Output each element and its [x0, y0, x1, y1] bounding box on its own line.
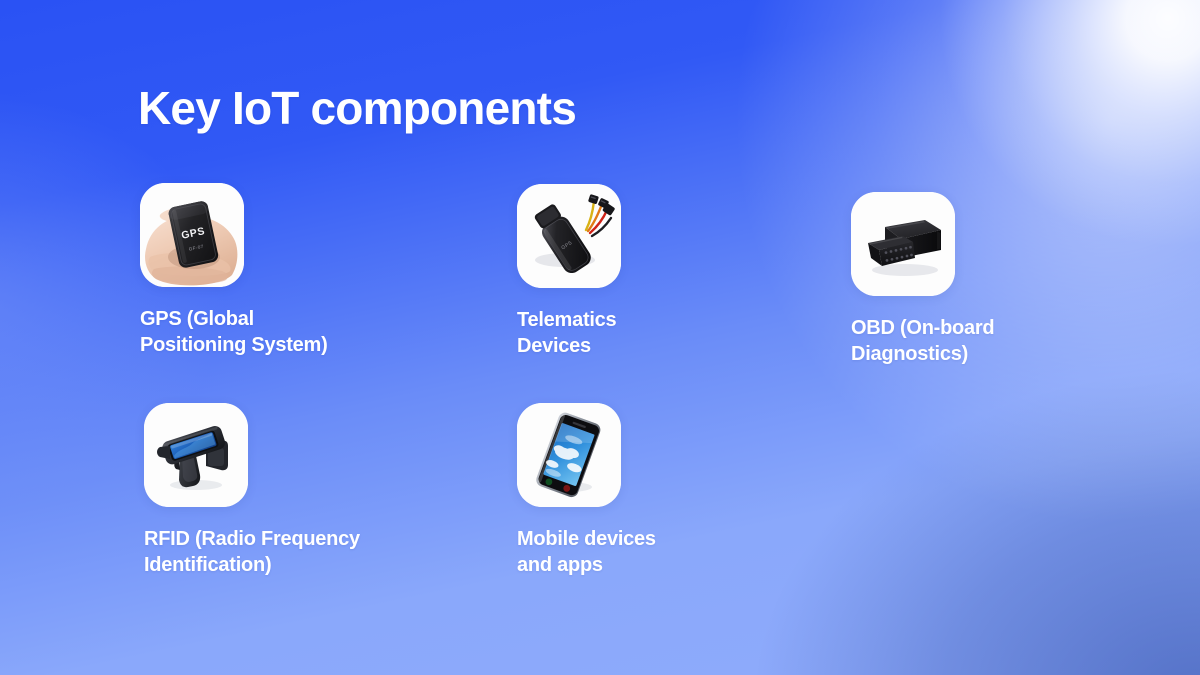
component-label-rfid: RFID (Radio Frequency Identification) [144, 527, 360, 578]
gps-tracker-in-hand-photo: GPS GF-07 [140, 183, 244, 287]
component-label-mobile: Mobile devices and apps [517, 527, 656, 578]
component-label-telematics: Telematics Devices [517, 308, 621, 359]
component-icon-tile-mobile [517, 403, 621, 507]
component-card-mobile[interactable]: Mobile devices and apps [517, 403, 656, 578]
component-icon-tile-rfid [144, 403, 248, 507]
smartphone-photo [517, 403, 621, 507]
rfid-handheld-scanner-photo [144, 403, 248, 507]
slide-canvas: Key IoT components [0, 0, 1200, 675]
component-card-telematics[interactable]: GPS [517, 184, 621, 359]
component-label-obd: OBD (On-board Diagnostics) [851, 316, 994, 367]
component-label-gps: GPS (Global Positioning System) [140, 307, 328, 358]
component-card-obd[interactable]: OBD (On-board Diagnostics) [851, 192, 994, 367]
page-title: Key IoT components [138, 84, 576, 132]
component-icon-tile-gps: GPS GF-07 [140, 183, 244, 287]
component-icon-tile-obd [851, 192, 955, 296]
component-card-rfid[interactable]: RFID (Radio Frequency Identification) [144, 403, 360, 578]
obd-dongle-photo [851, 192, 955, 296]
telematics-device-photo: GPS [517, 184, 621, 288]
component-icon-tile-telematics: GPS [517, 184, 621, 288]
component-card-gps[interactable]: GPS GF-07 GPS (Global Positioning System… [140, 183, 328, 358]
